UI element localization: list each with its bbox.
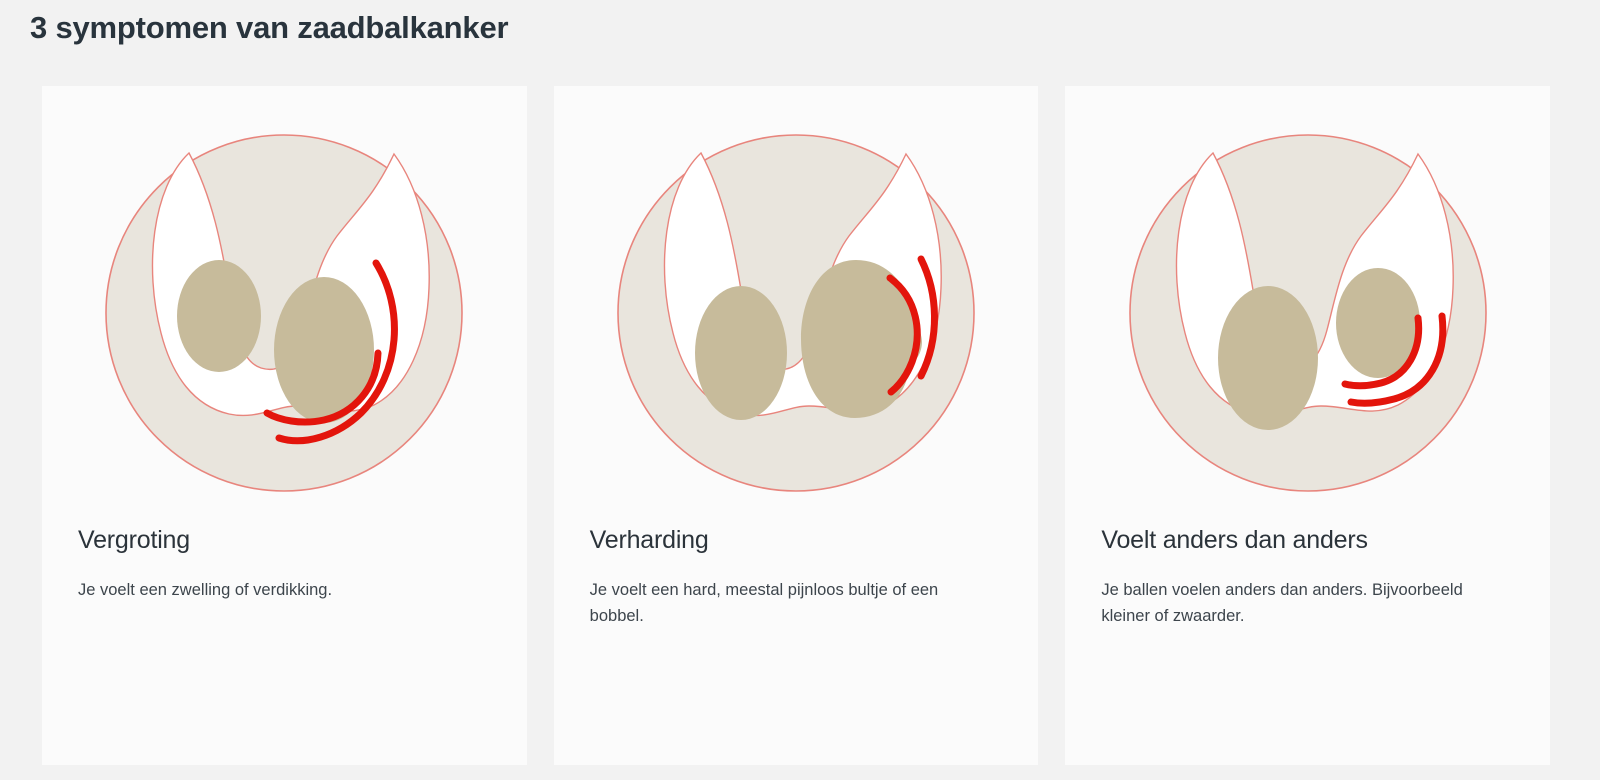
symptom-card-list: Vergroting Je voelt een zwelling of verd… xyxy=(42,86,1550,765)
illustration-container xyxy=(1065,86,1550,526)
page-title: 3 symptomen van zaadbalkanker xyxy=(30,10,508,46)
card-body: Voelt anders dan anders Je ballen voelen… xyxy=(1065,526,1550,630)
card-body: Vergroting Je voelt een zwelling of verd… xyxy=(42,526,527,603)
illustration-container xyxy=(42,86,527,526)
illustration-container xyxy=(554,86,1039,526)
card-heading: Vergroting xyxy=(78,526,491,555)
scrotum-enlarged-testicle-icon xyxy=(89,118,479,508)
card-heading: Verharding xyxy=(590,526,1003,555)
symptom-card-verharding[interactable]: Verharding Je voelt een hard, meestal pi… xyxy=(554,86,1039,765)
card-description: Je ballen voelen anders dan anders. Bijv… xyxy=(1101,577,1476,630)
symptoms-page: 3 symptomen van zaadbalkanker xyxy=(0,0,1600,780)
symptom-card-voelt-anders[interactable]: Voelt anders dan anders Je ballen voelen… xyxy=(1065,86,1550,765)
left-testicle xyxy=(177,260,261,372)
card-description: Je voelt een hard, meestal pijnloos bult… xyxy=(590,577,965,630)
scrotum-shrunken-testicle-icon xyxy=(1113,118,1503,508)
symptom-card-vergroting[interactable]: Vergroting Je voelt een zwelling of verd… xyxy=(42,86,527,765)
card-body: Verharding Je voelt een hard, meestal pi… xyxy=(554,526,1039,630)
scrotum-hard-lump-icon xyxy=(601,118,991,508)
left-testicle xyxy=(695,286,787,420)
left-testicle xyxy=(1218,286,1318,430)
card-description: Je voelt een zwelling of verdikking. xyxy=(78,577,453,604)
card-heading: Voelt anders dan anders xyxy=(1101,526,1514,555)
